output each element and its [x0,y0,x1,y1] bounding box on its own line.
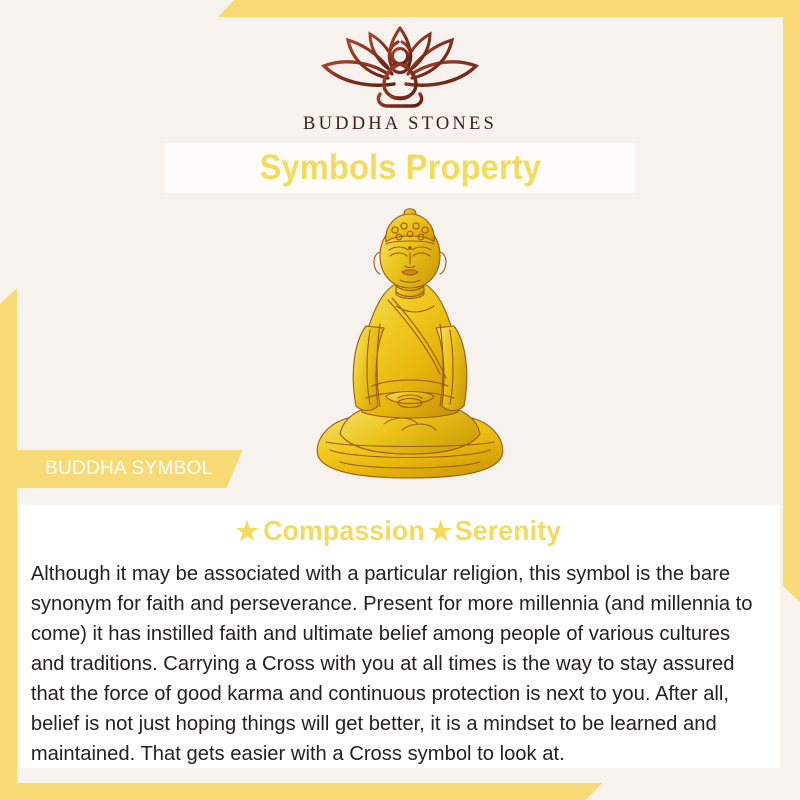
decorative-band-bottom [0,783,602,800]
buddha-statue-image [300,198,520,498]
seated-golden-buddha-illustration [300,198,520,498]
buddha-symbol-ribbon: BUDDHA SYMBOL [17,450,243,488]
page-title: Symbols Property [259,148,541,188]
poster-canvas: BUDDHA STONES Symbols Property [0,0,800,800]
keyword-serenity: Serenity [455,515,562,547]
brand-wordmark: BUDDHA STONES [0,114,800,135]
description-paragraph: Although it may be associated with a par… [20,547,769,769]
title-banner: Symbols Property [165,143,635,193]
content-subheading: ★Compassion★Serenity [20,505,780,547]
star-icon-left: ★ [235,516,259,546]
brand-header: BUDDHA STONES [0,22,800,135]
content-card: ★Compassion★Serenity Although it may be … [20,505,780,768]
decorative-band-top [218,0,800,17]
ribbon-label: BUDDHA SYMBOL [45,458,213,480]
star-icon-right: ★ [429,516,453,546]
keyword-compassion: Compassion [263,515,425,547]
decorative-band-left [0,288,17,800]
lotus-meditation-icon [310,22,490,110]
